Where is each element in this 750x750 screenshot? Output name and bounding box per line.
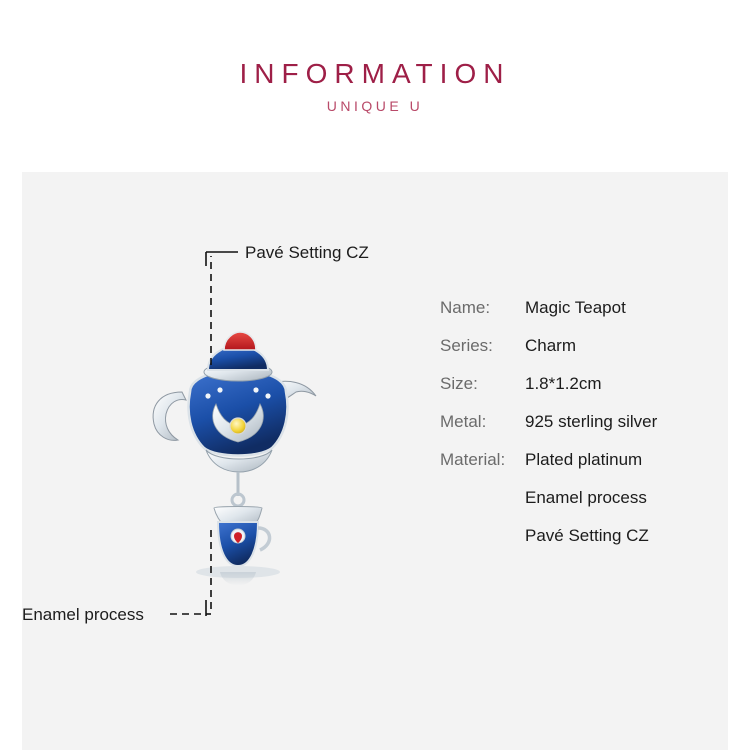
spec-label-name: Name: bbox=[440, 298, 525, 318]
spec-row-series: Series: Charm bbox=[440, 336, 720, 356]
cz-stone-yellow bbox=[230, 418, 246, 434]
teapot-knob-red bbox=[224, 332, 256, 350]
spec-label-series: Series: bbox=[440, 336, 525, 356]
product-image bbox=[120, 300, 370, 600]
spec-extra-enamel: Enamel process bbox=[525, 488, 720, 508]
spec-row-size: Size: 1.8*1.2cm bbox=[440, 374, 720, 394]
product-reflection bbox=[220, 572, 256, 586]
pave-stone bbox=[217, 387, 222, 392]
teapot-charm-illustration bbox=[120, 300, 370, 600]
teacup-handle bbox=[258, 528, 270, 550]
teapot-handle bbox=[153, 392, 186, 440]
spec-value-series: Charm bbox=[525, 336, 576, 356]
spec-row-material: Material: Plated platinum bbox=[440, 450, 720, 470]
teapot-body bbox=[189, 370, 288, 456]
spec-value-metal: 925 sterling silver bbox=[525, 412, 657, 432]
pave-stone bbox=[265, 393, 270, 398]
spec-label-metal: Metal: bbox=[440, 412, 525, 432]
page-title: INFORMATION bbox=[0, 58, 750, 90]
pave-stone bbox=[205, 393, 210, 398]
spec-row-metal: Metal: 925 sterling silver bbox=[440, 412, 720, 432]
spec-row-name: Name: Magic Teapot bbox=[440, 298, 720, 318]
spec-label-size: Size: bbox=[440, 374, 525, 394]
page-subtitle: UNIQUE U bbox=[0, 98, 750, 114]
page-header: INFORMATION UNIQUE U bbox=[0, 0, 750, 172]
pave-stone bbox=[253, 387, 258, 392]
spec-label-material: Material: bbox=[440, 450, 525, 470]
spec-value-size: 1.8*1.2cm bbox=[525, 374, 602, 394]
spec-list: Name: Magic Teapot Series: Charm Size: 1… bbox=[440, 298, 720, 564]
spec-extra-pave: Pavé Setting CZ bbox=[525, 526, 720, 546]
callout-label-pave-setting: Pavé Setting CZ bbox=[245, 243, 369, 263]
spec-value-name: Magic Teapot bbox=[525, 298, 626, 318]
callout-label-enamel-process: Enamel process bbox=[22, 605, 144, 625]
spec-value-material: Plated platinum bbox=[525, 450, 642, 470]
